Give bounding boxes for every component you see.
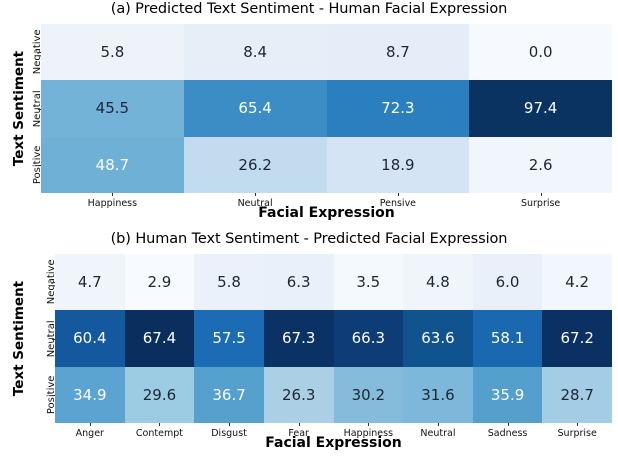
heatmap-cell: 6.3 xyxy=(264,254,334,310)
y-tick-mark xyxy=(38,52,41,53)
x-tick-mark xyxy=(112,193,113,196)
heatmap-cell: 97.4 xyxy=(469,80,612,136)
heatmap-cell: 57.5 xyxy=(194,310,264,366)
x-tick-mark xyxy=(541,193,542,196)
heatmap-cell: 26.3 xyxy=(264,367,334,423)
x-tick-mark xyxy=(577,423,578,426)
heatmap-cell: 67.2 xyxy=(542,310,612,366)
heatmap-cell: 58.1 xyxy=(473,310,543,366)
y-tick-mark xyxy=(52,339,55,340)
panel-a-x-axis-label: Facial Expression xyxy=(41,205,612,221)
heatmap-cell: 45.5 xyxy=(41,80,184,136)
heatmap-cell: 65.4 xyxy=(184,80,327,136)
heatmap-cell: 8.4 xyxy=(184,24,327,80)
heatmap-cell: 8.7 xyxy=(327,24,470,80)
heatmap-cell: 28.7 xyxy=(542,367,612,423)
heatmap-cell: 35.9 xyxy=(473,367,543,423)
heatmap-cell: 48.7 xyxy=(41,137,184,193)
figure-heatmap-pair: (a) Predicted Text Sentiment - Human Fac… xyxy=(0,0,618,460)
panel-b-heatmap-grid: 4.72.95.86.33.54.86.04.260.467.457.567.3… xyxy=(55,254,612,423)
panel-b-y-axis-label: Text Sentiment xyxy=(11,254,27,423)
x-tick-mark xyxy=(159,423,160,426)
x-tick-mark xyxy=(508,423,509,426)
heatmap-cell: 36.7 xyxy=(194,367,264,423)
heatmap-cell: 4.7 xyxy=(55,254,125,310)
heatmap-cell: 4.8 xyxy=(403,254,473,310)
heatmap-cell: 29.6 xyxy=(125,367,195,423)
x-tick-mark xyxy=(368,423,369,426)
heatmap-cell: 6.0 xyxy=(473,254,543,310)
heatmap-cell: 66.3 xyxy=(334,310,404,366)
heatmap-cell: 2.6 xyxy=(469,137,612,193)
panel-a-heatmap-grid: 5.88.48.70.045.565.472.397.448.726.218.9… xyxy=(41,24,612,193)
heatmap-cell: 0.0 xyxy=(469,24,612,80)
heatmap-cell: 2.9 xyxy=(125,254,195,310)
panel-b-x-axis-label: Facial Expression xyxy=(55,435,612,451)
y-tick-mark xyxy=(38,109,41,110)
heatmap-cell: 63.6 xyxy=(403,310,473,366)
panel-b: (b) Human Text Sentiment - Predicted Fac… xyxy=(0,230,618,460)
x-tick-mark xyxy=(229,423,230,426)
heatmap-cell: 4.2 xyxy=(542,254,612,310)
heatmap-cell: 67.3 xyxy=(264,310,334,366)
heatmap-cell: 60.4 xyxy=(55,310,125,366)
heatmap-cell: 72.3 xyxy=(327,80,470,136)
x-tick-mark xyxy=(438,423,439,426)
heatmap-cell: 67.4 xyxy=(125,310,195,366)
panel-a-y-axis-label: Text Sentiment xyxy=(11,24,27,193)
panel-b-title: (b) Human Text Sentiment - Predicted Fac… xyxy=(0,231,618,247)
x-tick-mark xyxy=(255,193,256,196)
heatmap-cell: 5.8 xyxy=(41,24,184,80)
y-tick-mark xyxy=(38,165,41,166)
x-tick-mark xyxy=(398,193,399,196)
y-tick-mark xyxy=(52,395,55,396)
x-tick-mark xyxy=(299,423,300,426)
heatmap-cell: 30.2 xyxy=(334,367,404,423)
heatmap-cell: 18.9 xyxy=(327,137,470,193)
x-tick-mark xyxy=(90,423,91,426)
heatmap-cell: 5.8 xyxy=(194,254,264,310)
heatmap-cell: 26.2 xyxy=(184,137,327,193)
panel-a: (a) Predicted Text Sentiment - Human Fac… xyxy=(0,0,618,230)
heatmap-cell: 31.6 xyxy=(403,367,473,423)
heatmap-cell: 34.9 xyxy=(55,367,125,423)
panel-a-title: (a) Predicted Text Sentiment - Human Fac… xyxy=(0,1,618,17)
heatmap-cell: 3.5 xyxy=(334,254,404,310)
y-tick-mark xyxy=(52,282,55,283)
